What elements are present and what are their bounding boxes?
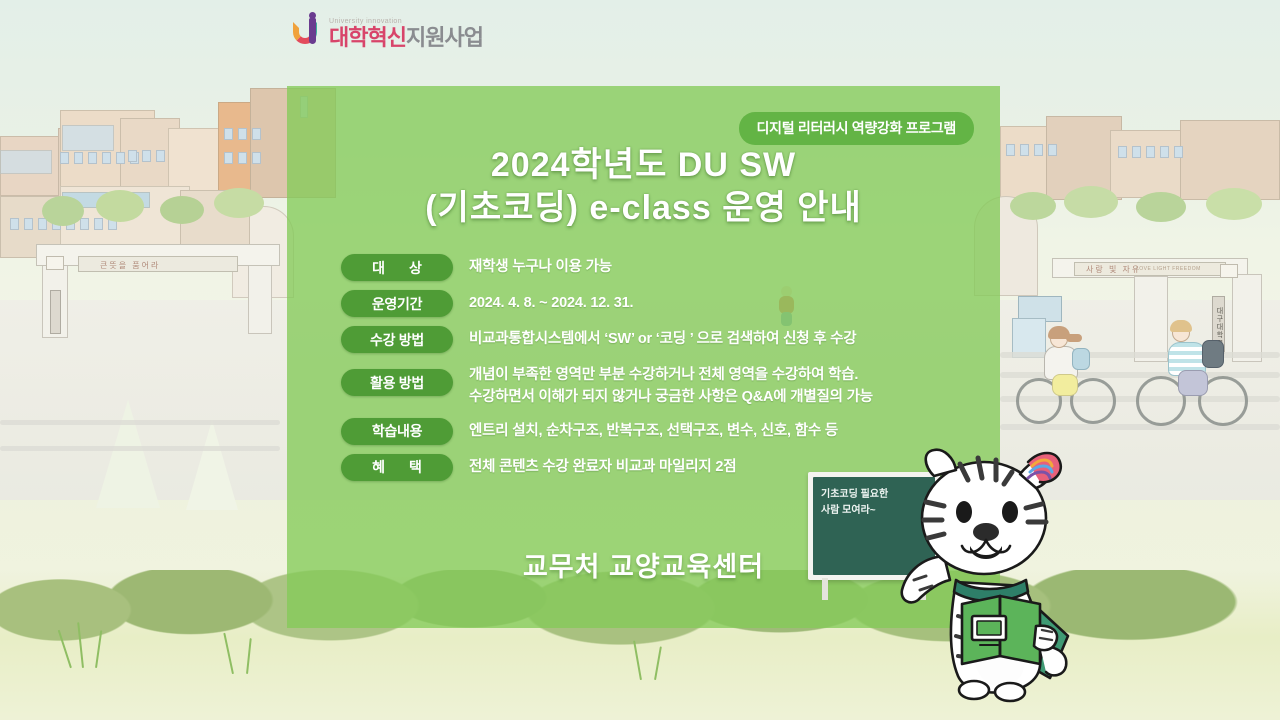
info-row-line: 수강하면서 이해가 되지 않거나 궁금한 사항은 Q&A에 개별질의 가능: [469, 387, 873, 409]
window-row: [224, 128, 261, 140]
cyclist-leg: [1052, 374, 1078, 396]
right-gate-text-english: LOVE LIGHT FREEDOM: [1136, 266, 1201, 272]
info-row-line: 엔트리 설치, 순차구조, 반복구조, 선택구조, 변수, 신호, 함수 등: [469, 421, 838, 443]
tree-shape: [42, 196, 84, 226]
logo-korean-part1: 대학혁신: [329, 25, 406, 50]
building-block: [0, 150, 52, 174]
tree-shape: [160, 196, 204, 224]
tree-shape: [1206, 188, 1262, 220]
tree-shape: [1136, 192, 1186, 222]
logo-english-text: University innovation: [329, 18, 483, 25]
tiger-mascot: [900, 440, 1090, 705]
info-rows: 대 상 재학생 누구나 이용 가능 운영기간 2024. 4. 8. ~ 202…: [341, 254, 961, 490]
cyclist-figure: [1132, 318, 1262, 446]
tree-shape: [1064, 186, 1118, 218]
cyclist-backpack: [1202, 340, 1224, 368]
conifer-tree: [186, 420, 238, 510]
logo-j-shape: [309, 18, 316, 44]
info-row-line: 비교과통합시스템에서 ‘SW’ or ‘코딩 ’ 으로 검색하여 신청 후 수강: [469, 329, 856, 351]
logo-korean-text: 대학혁신지원사업: [329, 27, 483, 49]
building-block: [62, 125, 114, 151]
logo-korean-part2: 지원사업: [406, 25, 483, 50]
info-row-label: 대 상: [341, 254, 453, 281]
blackboard-leg: [822, 578, 828, 600]
cyclist-ponytail: [1066, 334, 1082, 342]
info-row-line: 전체 콘텐츠 수강 완료자 비교과 마일리지 2점: [469, 457, 736, 479]
cyclist-figure: [1012, 322, 1132, 442]
window-row: [1118, 146, 1183, 158]
left-gate-text: 큰뜻을 품어라: [100, 260, 160, 271]
info-row-value: 엔트리 설치, 순차구조, 반복구조, 선택구조, 변수, 신호, 함수 등: [469, 418, 838, 443]
tree-shape: [1010, 192, 1056, 220]
program-badge: 디지털 리터러시 역량강화 프로그램: [739, 112, 974, 145]
window-row: [224, 152, 261, 164]
info-row-label: 학습내용: [341, 418, 453, 445]
info-row: 활용 방법 개념이 부족한 영역만 부분 수강하거나 전체 영역을 수강하여 학…: [341, 362, 961, 409]
window-row: [1006, 144, 1057, 156]
info-row-line: 2024. 4. 8. ~ 2024. 12. 31.: [469, 293, 633, 315]
info-row-value: 비교과통합시스템에서 ‘SW’ or ‘코딩 ’ 으로 검색하여 신청 후 수강: [469, 326, 856, 351]
logo-uj-icon: [293, 16, 323, 50]
tree-shape: [214, 188, 264, 218]
info-row-line: 재학생 누구나 이용 가능: [469, 257, 612, 279]
info-row: 수강 방법 비교과통합시스템에서 ‘SW’ or ‘코딩 ’ 으로 검색하여 신…: [341, 326, 961, 353]
tree-shape: [96, 190, 144, 222]
info-row-label: 수강 방법: [341, 326, 453, 353]
poster-canvas: 큰뜻을 품어라 사랑 빛 자유 LOVE LIGHT FREEDOM 대구대학교: [0, 0, 1280, 720]
right-gate-text: 사랑 빛 자유: [1086, 264, 1141, 275]
university-innovation-logo: University innovation 대학혁신지원사업: [293, 16, 483, 50]
building-block: [1110, 130, 1190, 198]
info-row: 대 상 재학생 누구나 이용 가능: [341, 254, 961, 281]
gate-emblem: [1220, 264, 1238, 278]
info-row-value: 2024. 4. 8. ~ 2024. 12. 31.: [469, 290, 633, 315]
conifer-tree: [96, 400, 160, 508]
cyclist-backpack: [1072, 348, 1090, 370]
gate-emblem: [46, 256, 64, 270]
poster-title: 2024학년도 DU SW (기초코딩) e-class 운영 안내: [287, 144, 1000, 230]
info-row: 학습내용 엔트리 설치, 순차구조, 반복구조, 선택구조, 변수, 신호, 함…: [341, 418, 961, 445]
cyclist-hair: [1170, 320, 1192, 332]
info-row-label: 운영기간: [341, 290, 453, 317]
left-gate-vertical-sign: [50, 290, 61, 334]
road-stripe: [0, 446, 280, 451]
logo-text-group: University innovation 대학혁신지원사업: [329, 18, 483, 49]
info-row-value: 전체 콘텐츠 수강 완료자 비교과 마일리지 2점: [469, 454, 736, 479]
title-line-2: (기초코딩) e-class 운영 안내: [287, 187, 1000, 230]
info-row-line: 개념이 부족한 영역만 부분 수강하거나 전체 영역을 수강하여 학습.: [469, 365, 873, 387]
cyclist-leg: [1178, 370, 1208, 396]
info-row-value: 재학생 누구나 이용 가능: [469, 254, 612, 279]
info-row-label: 활용 방법: [341, 369, 453, 396]
info-row: 운영기간 2024. 4. 8. ~ 2024. 12. 31.: [341, 290, 961, 317]
window-row: [128, 150, 165, 162]
info-row-label: 혜 택: [341, 454, 453, 481]
road-stripe: [0, 420, 280, 425]
info-row-value: 개념이 부족한 영역만 부분 수강하거나 전체 영역을 수강하여 학습. 수강하…: [469, 362, 873, 409]
title-line-1: 2024학년도 DU SW: [287, 144, 1000, 187]
